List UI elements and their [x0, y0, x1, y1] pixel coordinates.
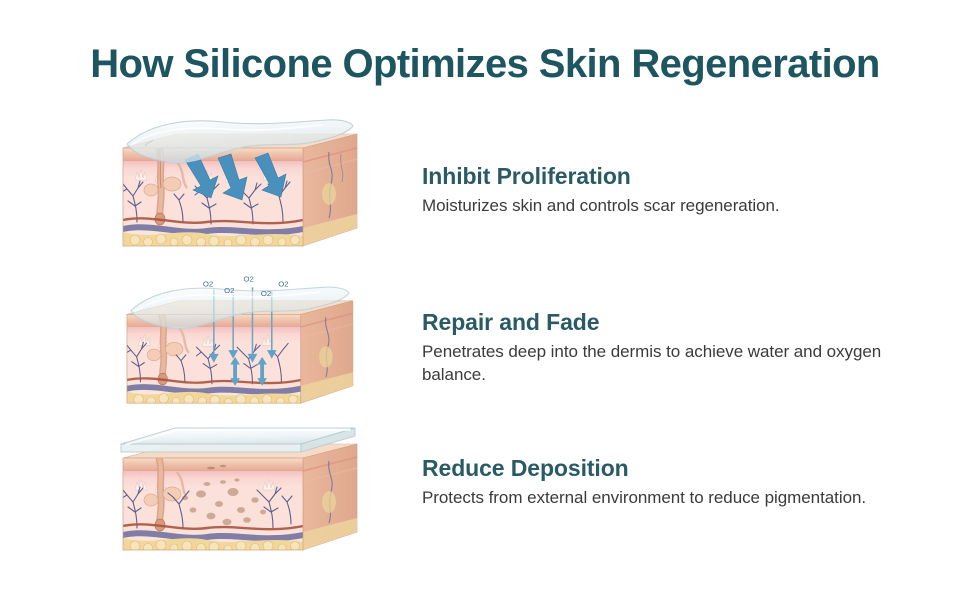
section-heading: Inhibit Proliferation [422, 164, 892, 189]
text-block-repair-and-fade: Repair and Fade Penetrates deep into the… [422, 310, 892, 386]
section-repair-and-fade: O2 O2 O2 O2 O2 Repair and Fade Penetrate… [0, 268, 970, 408]
o2-label: O2 [203, 279, 213, 288]
section-inhibit-proliferation: Inhibit Proliferation Moisturizes skin a… [0, 118, 970, 258]
figure-skin-block-flat-sheet-pigment [115, 418, 360, 558]
figure-skin-block-draped-sheet [115, 118, 360, 258]
text-block-reduce-deposition: Reduce Deposition Protects from external… [422, 456, 892, 510]
section-body: Moisturizes skin and controls scar regen… [422, 195, 892, 217]
section-heading: Reduce Deposition [422, 456, 892, 481]
o2-label: O2 [224, 286, 234, 295]
figure-skin-block-oxygen-penetration: O2 O2 O2 O2 O2 [115, 268, 360, 408]
infographic-page: How Silicone Optimizes Skin Regeneration [0, 0, 970, 600]
o2-label: O2 [278, 279, 288, 288]
sections-container: Inhibit Proliferation Moisturizes skin a… [0, 118, 970, 538]
section-heading: Repair and Fade [422, 310, 892, 335]
o2-label: O2 [243, 275, 253, 284]
text-block-inhibit-proliferation: Inhibit Proliferation Moisturizes skin a… [422, 164, 892, 218]
section-body: Penetrates deep into the dermis to achie… [422, 341, 892, 386]
page-title: How Silicone Optimizes Skin Regeneration [0, 42, 970, 87]
section-body: Protects from external environment to re… [422, 487, 892, 509]
skin-front-face [122, 458, 303, 553]
o2-label: O2 [261, 289, 271, 298]
skin-front-face [122, 148, 303, 247]
section-reduce-deposition: Reduce Deposition Protects from external… [0, 418, 970, 558]
